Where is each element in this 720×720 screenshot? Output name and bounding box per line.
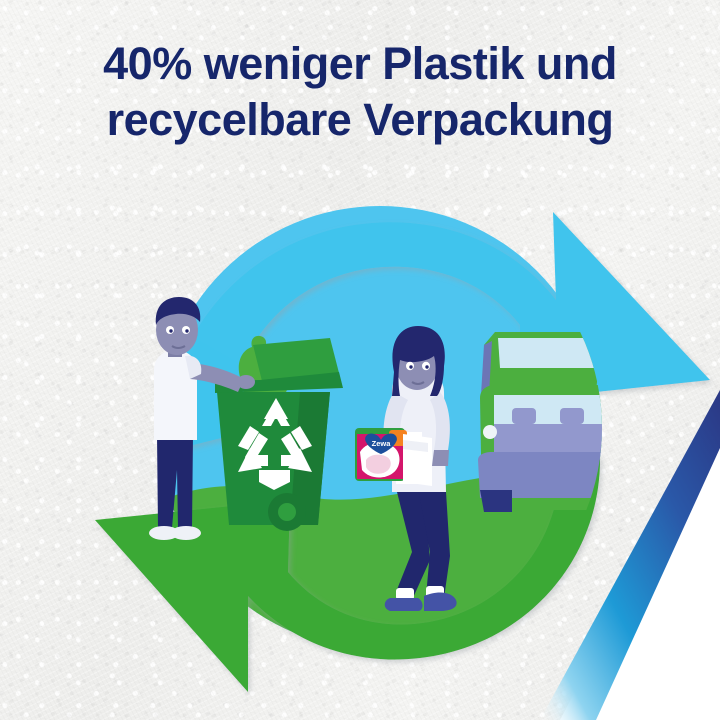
man-shoe-right (171, 526, 201, 540)
woman-pupil-right (425, 365, 428, 368)
man-hand (237, 375, 255, 389)
woman-shoe-back (385, 598, 423, 611)
headline-line-1: 40% weniger Plastik und (0, 36, 720, 92)
car-hatch-window (498, 338, 594, 368)
man-pupil-right (185, 329, 188, 332)
car-headrest-right (560, 408, 584, 424)
zewa-logo-text: Zewa (372, 439, 392, 448)
zewa-product-pack: Zewa (355, 428, 432, 486)
page-title: 40% weniger Plastik und recycelbare Verp… (0, 36, 720, 148)
poster-canvas: 40% weniger Plastik und recycelbare Verp… (0, 0, 720, 720)
scene-circle: Zewa (95, 195, 710, 692)
car-taillight (483, 425, 497, 439)
headline-line-2: recycelbare Verpackung (0, 92, 720, 148)
man-pupil-left (169, 329, 172, 332)
car-exhaust-shadow (480, 490, 512, 512)
bin-wheel-hub (278, 503, 296, 521)
pack-roll-inner (366, 455, 391, 474)
car-headrest-left (512, 408, 536, 424)
woman-pupil-left (409, 365, 412, 368)
woman-hand-right (432, 450, 449, 466)
